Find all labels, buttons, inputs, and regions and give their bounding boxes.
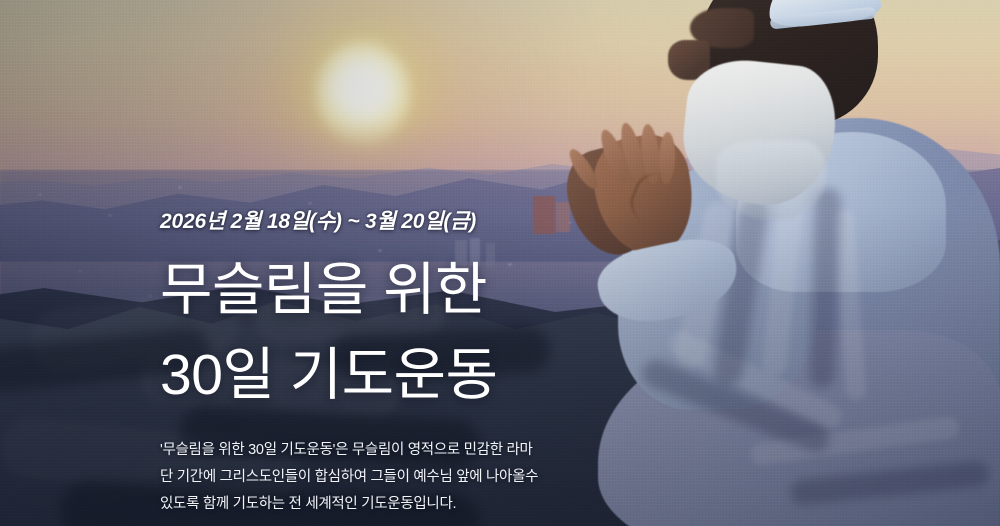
description-line-1: '무슬림을 위한 30일 기도운동'은 무슬림이 영적으로 민감한 라마 <box>160 437 580 464</box>
description-line-2: 단 기간에 그리스도인들이 합심하여 그들이 예수님 앞에 나아올수 <box>160 464 580 491</box>
banner-copy: 2026년 2월 18일(수) ~ 3월 20일(금) 무슬림을 위한 30일 … <box>160 0 630 526</box>
page-title: 무슬림을 위한 30일 기도운동 <box>160 248 497 418</box>
headline-line-2: 30일 기도운동 <box>160 333 497 418</box>
prayer-campaign-banner[interactable]: 2026년 2월 18일(수) ~ 3월 20일(금) 무슬림을 위한 30일 … <box>0 0 1000 526</box>
headline-line-1: 무슬림을 위한 <box>160 248 497 333</box>
description-line-3: 있도록 함께 기도하는 전 세계적인 기도운동입니다. <box>160 491 580 518</box>
campaign-date-range: 2026년 2월 18일(수) ~ 3월 20일(금) <box>160 205 476 235</box>
campaign-description: '무슬림을 위한 30일 기도운동'은 무슬림이 영적으로 민감한 라마 단 기… <box>160 437 580 518</box>
